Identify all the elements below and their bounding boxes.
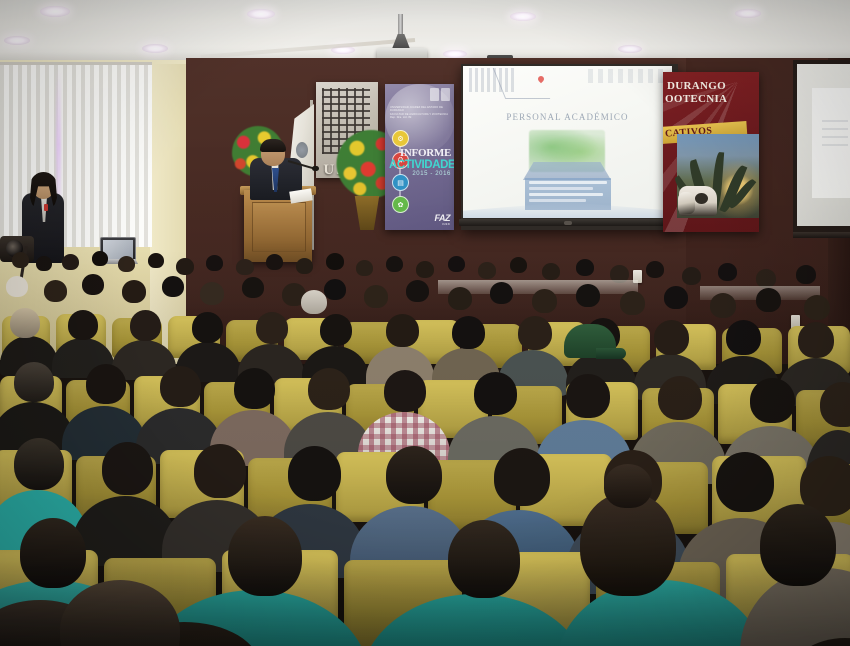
audience-head — [386, 256, 403, 272]
foreground-head — [20, 518, 86, 588]
cow-head — [678, 192, 695, 214]
audience-head — [664, 286, 688, 309]
audience-head — [148, 253, 164, 268]
audience-head — [364, 285, 388, 308]
audience-head — [658, 376, 702, 420]
audience-head — [326, 253, 344, 270]
banner-photo — [677, 134, 759, 218]
audience-head — [162, 276, 184, 297]
audience-head — [234, 368, 275, 409]
downlight — [735, 9, 761, 18]
downlight — [4, 36, 30, 45]
audience-head — [206, 255, 223, 271]
audience-head — [68, 310, 98, 340]
audience-head — [92, 251, 108, 266]
audience-head — [386, 314, 419, 347]
audience-head — [14, 438, 64, 490]
audience-head — [406, 280, 429, 302]
secondary-screen-roller-case — [793, 232, 850, 238]
audience-head — [448, 287, 472, 310]
informe-banner: UNIVERSIDAD JUAREZ DEL ESTADO DE DURANGO… — [385, 84, 454, 230]
audience-head — [756, 288, 781, 312]
audience-head — [82, 274, 104, 295]
ribbon-badge-icon — [44, 204, 48, 211]
audience-head — [122, 280, 146, 303]
audience-head — [490, 282, 513, 304]
audience-head — [256, 312, 288, 344]
audience-head — [236, 259, 254, 275]
faz-logo-text: FAZ — [435, 213, 451, 223]
audience-head — [86, 364, 126, 404]
audience-head — [542, 263, 560, 280]
audience-head — [266, 254, 283, 270]
audience-head — [798, 322, 834, 358]
audience-head — [118, 256, 135, 272]
audience-head — [200, 282, 224, 305]
audience-head — [160, 366, 201, 407]
hair-bun — [604, 464, 652, 508]
downlight — [142, 44, 168, 53]
slide-title: PERSONAL ACADÉMICO — [463, 112, 672, 122]
audience-head — [176, 258, 194, 275]
microphone-icon — [312, 166, 319, 171]
banner-line1: DURANGO — [667, 80, 726, 92]
audience-head — [646, 261, 664, 278]
audience-head — [102, 442, 153, 495]
durango-zootecnia-banner: DURANGO OOTECNIA CATIVOS — [663, 72, 759, 232]
audience-head — [620, 291, 645, 315]
main-projection-screen: PERSONAL ACADÉMICO — [463, 66, 672, 218]
auditorium-photo: UJED UNIVERSIDAD JUAREZ DEL ESTADO DE DU… — [0, 0, 850, 646]
audience-head — [478, 262, 496, 279]
audience-head — [320, 314, 352, 346]
audience-head — [192, 312, 223, 343]
slide-header-text-block — [588, 69, 666, 83]
audience-head — [356, 260, 373, 276]
audience-head — [416, 261, 434, 278]
foreground-head — [228, 516, 302, 596]
slide-bullet — [529, 181, 607, 184]
audience-head — [804, 295, 830, 320]
banner-title-block: INFORME ACTIVIDADES 2015 - 2016 — [389, 148, 451, 177]
slide-chevron-graphic — [493, 68, 551, 99]
downlight — [40, 6, 70, 17]
audience-head — [576, 284, 600, 307]
podium-front-panel — [252, 202, 306, 252]
faz-logo: FAZ UJED — [435, 213, 451, 226]
audience-head — [750, 378, 795, 423]
banner-line2: OOTECNIA — [665, 93, 727, 105]
audience-head — [242, 277, 264, 298]
presenter-hair — [260, 139, 286, 152]
downlight — [618, 45, 642, 53]
audience-head — [494, 448, 550, 506]
audience-head — [130, 310, 161, 341]
gear-icon: ⚙ — [392, 130, 409, 147]
faz-logo-subtext: UJED — [435, 223, 451, 226]
audience-head — [474, 372, 517, 415]
slide-bullet — [529, 199, 586, 202]
audience-head — [288, 446, 341, 501]
downlight — [443, 50, 467, 58]
audience-head — [716, 452, 774, 512]
banner-title-informe: INFORME — [389, 148, 451, 159]
audience-head — [796, 265, 816, 284]
audience-head — [452, 316, 485, 349]
audience-head-grey — [301, 290, 327, 314]
audience-head-white-hood — [6, 276, 28, 297]
audience-head — [12, 252, 29, 268]
audience-head — [14, 362, 54, 402]
audience-head — [448, 256, 465, 272]
foreground-head — [448, 520, 520, 598]
banner-univ-line1: UNIVERSIDAD JUAREZ DEL ESTADO DE DURANGO — [390, 106, 449, 113]
audience-head — [510, 257, 527, 273]
banner-university-text: UNIVERSIDAD JUAREZ DEL ESTADO DE DURANGO… — [390, 106, 449, 120]
leaf-icon: ✿ — [392, 196, 409, 213]
audience-head — [726, 320, 761, 355]
audience-head — [566, 374, 610, 418]
flag-emblem-icon — [296, 142, 308, 158]
screen-roller-case — [459, 219, 676, 226]
downlight — [247, 9, 275, 19]
audience-head — [62, 254, 79, 270]
slide-footer-graphic — [463, 202, 672, 218]
banner-years: 2015 - 2016 — [389, 171, 451, 177]
audience-head — [296, 258, 313, 274]
audience-head — [682, 267, 701, 285]
audience-head — [324, 279, 346, 300]
audience-head — [710, 293, 736, 318]
cap-brim — [596, 348, 626, 359]
audience-head-blonde — [10, 308, 40, 338]
secondary-screen-text-lines — [822, 120, 848, 150]
audience-head — [532, 289, 557, 313]
audience-head — [576, 259, 594, 276]
slide-bullet — [529, 193, 603, 196]
audience-head — [44, 280, 67, 302]
banner-title-actividades: ACTIVIDADES — [389, 159, 451, 171]
audience-head — [654, 320, 689, 355]
audience-head — [718, 263, 737, 281]
seated-audience — [0, 250, 850, 646]
slide-bullet — [529, 187, 593, 190]
cow-spot — [695, 193, 708, 204]
banner-univ-line3: Rep. Dra. Ltd. IM — [390, 116, 449, 119]
downlight — [510, 12, 536, 21]
audience-head — [386, 446, 442, 504]
audience-head — [384, 370, 426, 412]
audience-head — [308, 368, 350, 410]
audience-head — [36, 256, 52, 271]
foreground-head — [760, 504, 836, 586]
banner-header-marks — [389, 88, 450, 104]
audience-head — [518, 316, 552, 350]
audience-head — [194, 444, 246, 498]
